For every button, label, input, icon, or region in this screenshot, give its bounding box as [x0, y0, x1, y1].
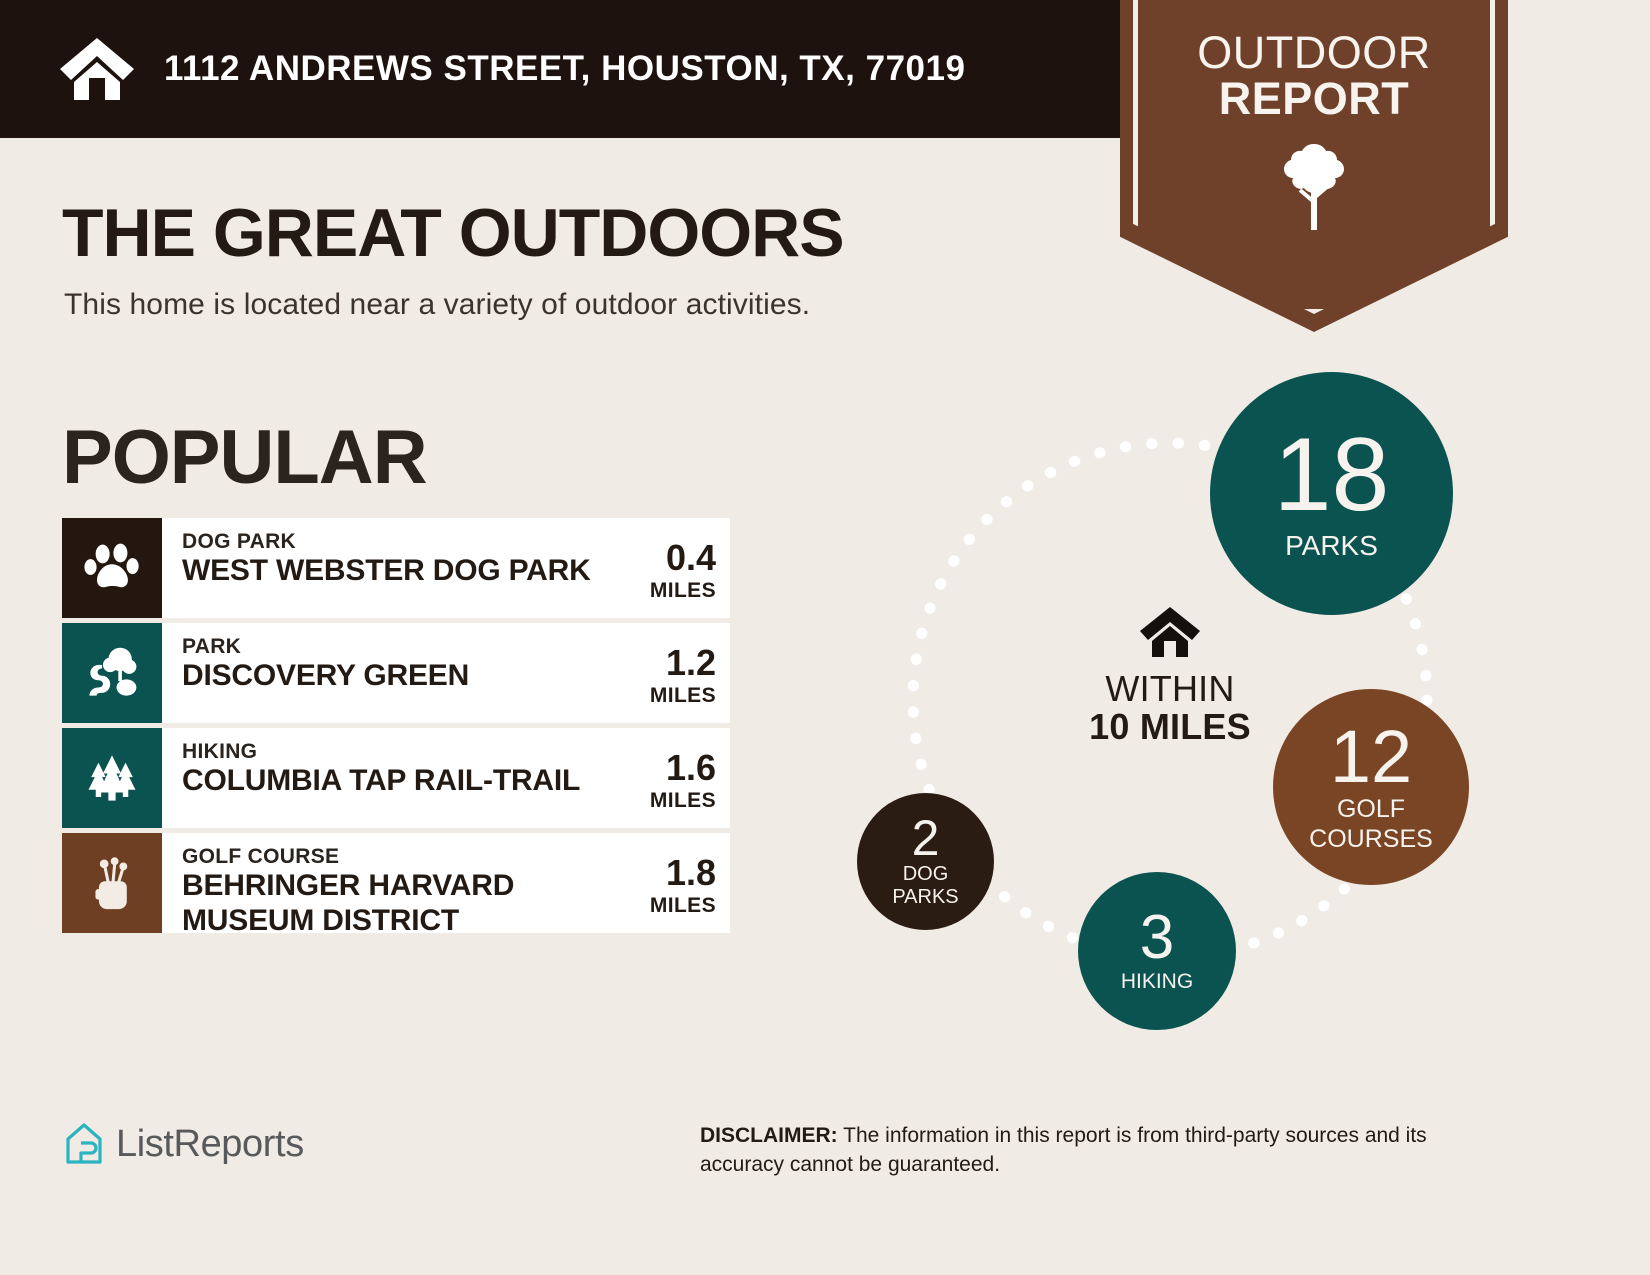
bubble-golf-count: 12	[1330, 722, 1412, 792]
bubble-dog-label-line2: PARKS	[892, 887, 958, 908]
list-item[interactable]: DOG PARK WEST WEBSTER DOG PARK 0.4 MILES	[62, 518, 730, 618]
list-item-distance: 0.4 MILES	[618, 540, 716, 603]
header-address: 1112 ANDREWS STREET, HOUSTON, TX, 77019	[164, 49, 965, 89]
list-item-distance: 1.8 MILES	[618, 855, 716, 918]
chart-center-label: WITHIN 10 MILES	[1025, 605, 1315, 746]
center-label-line1: WITHIN	[1025, 670, 1315, 708]
page-subtitle: This home is located near a variety of o…	[64, 288, 810, 322]
tree-icon	[1277, 140, 1351, 232]
badge-line1: OUTDOOR	[1197, 30, 1431, 76]
list-item-body: HIKING COLUMBIA TAP RAIL-TRAIL 1.6 MILES	[162, 728, 730, 828]
list-item-distance: 1.6 MILES	[618, 750, 716, 813]
bubble-dog-label-line1: DOG	[903, 864, 949, 885]
bubble-hiking-count: 3	[1140, 909, 1174, 968]
bubble-parks-label: PARKS	[1285, 531, 1378, 560]
popular-list: DOG PARK WEST WEBSTER DOG PARK 0.4 MILES…	[62, 518, 730, 938]
header-bar: 1112 ANDREWS STREET, HOUSTON, TX, 77019	[0, 0, 1238, 138]
list-item-body: GOLF COURSE BEHRINGER HARVARD MUSEUM DIS…	[162, 833, 730, 933]
park-tree-path-icon	[62, 623, 162, 723]
page-title: THE GREAT OUTDOORS	[62, 194, 844, 272]
listreports-logo[interactable]: ListReports	[64, 1122, 304, 1166]
bubble-hiking[interactable]: 3 HIKING	[1078, 872, 1236, 1030]
bubble-parks[interactable]: 18 PARKS	[1210, 372, 1453, 615]
list-item-body: PARK DISCOVERY GREEN 1.2 MILES	[162, 623, 730, 723]
bubble-parks-count: 18	[1274, 426, 1390, 525]
badge-line2: REPORT	[1219, 76, 1410, 122]
paw-icon	[62, 518, 162, 618]
distance-value: 1.2	[618, 645, 716, 681]
within-10-miles-chart: 18 PARKS 12 GOLF COURSES 3 HIKING 2 DOG …	[830, 360, 1510, 1040]
bubble-golf-label-line2: COURSES	[1309, 826, 1433, 852]
bubble-hiking-label: HIKING	[1121, 971, 1193, 993]
distance-unit: MILES	[618, 894, 716, 918]
list-item-distance: 1.2 MILES	[618, 645, 716, 708]
bubble-golf-label-line1: GOLF	[1337, 796, 1405, 822]
pine-trees-icon	[62, 728, 162, 828]
list-item[interactable]: GOLF COURSE BEHRINGER HARVARD MUSEUM DIS…	[62, 833, 730, 933]
distance-value: 0.4	[618, 540, 716, 576]
bubble-dog-count: 2	[912, 815, 940, 863]
list-item-body: DOG PARK WEST WEBSTER DOG PARK 0.4 MILES	[162, 518, 730, 618]
bubble-dog-parks[interactable]: 2 DOG PARKS	[857, 793, 994, 930]
listreports-logo-text: ListReports	[116, 1123, 304, 1166]
disclaimer-label: DISCLAIMER:	[700, 1124, 838, 1147]
distance-unit: MILES	[618, 684, 716, 708]
distance-unit: MILES	[618, 789, 716, 813]
house-icon	[1138, 605, 1202, 659]
distance-unit: MILES	[618, 579, 716, 603]
list-item[interactable]: PARK DISCOVERY GREEN 1.2 MILES	[62, 623, 730, 723]
distance-value: 1.6	[618, 750, 716, 786]
golf-bag-icon	[62, 833, 162, 933]
popular-heading: POPULAR	[62, 414, 427, 501]
listreports-house-icon	[64, 1122, 104, 1166]
list-item[interactable]: HIKING COLUMBIA TAP RAIL-TRAIL 1.6 MILES	[62, 728, 730, 828]
house-icon	[58, 36, 136, 102]
distance-value: 1.8	[618, 855, 716, 891]
center-label-line2: 10 MILES	[1025, 708, 1315, 746]
disclaimer: DISCLAIMER: The information in this repo…	[700, 1122, 1510, 1180]
